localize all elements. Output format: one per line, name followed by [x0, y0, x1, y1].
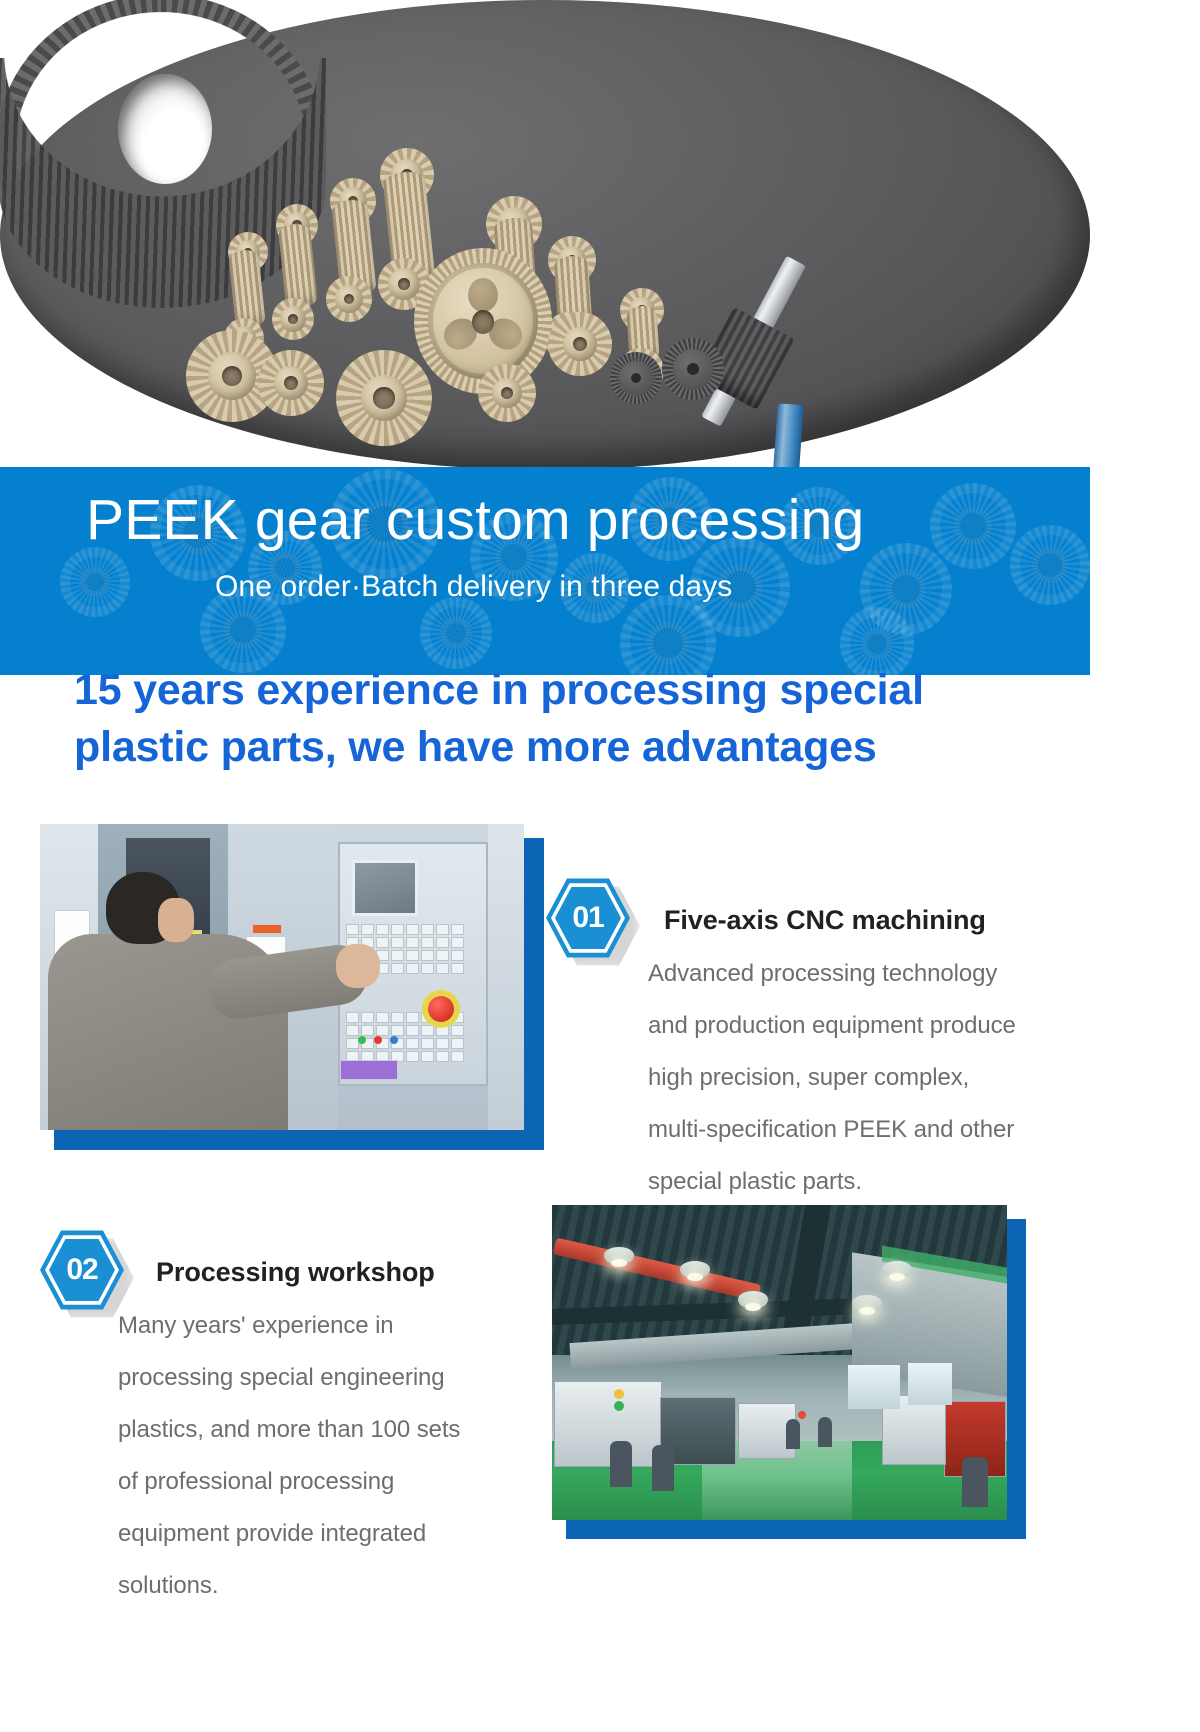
peek-gear-icon [478, 364, 536, 422]
feature-badge-02: 02 [40, 1228, 124, 1312]
hero-banner: PEEK gear custom processing One order·Ba… [0, 467, 1090, 675]
gear-watermark-icon [930, 483, 1016, 569]
large-graphite-gear-icon [0, 0, 322, 296]
peek-gear-icon [258, 350, 324, 416]
feature-body-line: high precision, super complex, [648, 1052, 1088, 1104]
peek-gear-icon [336, 350, 432, 446]
feature-body-line: plastics, and more than 100 sets [118, 1404, 538, 1456]
feature-body-line: processing special engineering [118, 1352, 538, 1404]
headline-line-2: plastic parts, we have more advantages [74, 719, 1084, 776]
banner-title: PEEK gear custom processing [86, 491, 864, 551]
graphite-small-gear-icon [610, 352, 662, 404]
cnc-photo-frame [40, 824, 530, 1136]
badge-number: 01 [572, 903, 603, 933]
feature-body-line: special plastic parts. [648, 1156, 1088, 1208]
gear-watermark-icon [420, 597, 492, 669]
feature-body-line: solutions. [118, 1560, 538, 1612]
feature-body-line: Many years' experience in [118, 1300, 538, 1352]
workshop-photo-frame [552, 1205, 1012, 1525]
hero-product-photo [0, 0, 1090, 470]
feature-body-line: Advanced processing technology [648, 948, 1088, 1000]
headline-line-1: 15 years experience in processing specia… [74, 662, 1084, 719]
feature-body-line: of professional processing [118, 1456, 538, 1508]
feature-body-line: equipment provide integrated [118, 1508, 538, 1560]
feature-title-02: Processing workshop [156, 1257, 435, 1288]
feature-body-01: Advanced processing technology and produ… [648, 948, 1088, 1208]
cnc-operator-photo [40, 824, 524, 1130]
feature-body-line: and production equipment produce [648, 1000, 1088, 1052]
feature-body-line: multi-specification PEEK and other [648, 1104, 1088, 1156]
section-headline: 15 years experience in processing specia… [74, 662, 1084, 776]
badge-number: 02 [66, 1255, 97, 1285]
graphite-small-gear-icon [662, 338, 724, 400]
workshop-photo [552, 1205, 1007, 1520]
feature-body-02: Many years' experience in processing spe… [118, 1300, 538, 1612]
banner-subtitle: One order·Batch delivery in three days [215, 570, 732, 604]
feature-badge-01: 01 [546, 876, 630, 960]
peek-gear-icon [326, 276, 372, 322]
peek-gear-icon [548, 312, 612, 376]
peek-gear-icon [272, 298, 314, 340]
gear-watermark-icon [60, 547, 130, 617]
feature-title-01: Five-axis CNC machining [664, 905, 986, 936]
gear-watermark-icon [1010, 525, 1090, 605]
